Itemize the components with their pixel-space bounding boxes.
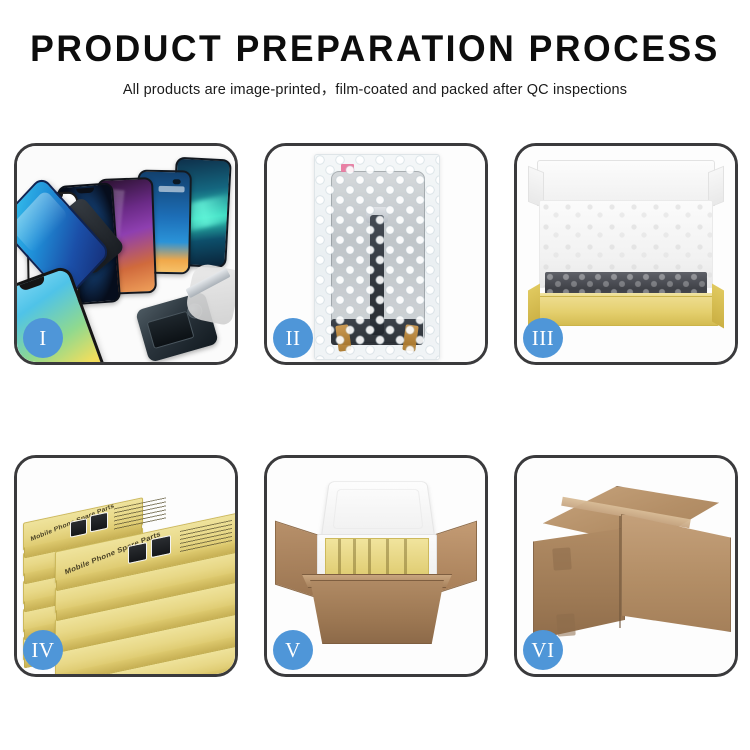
carton-front-panel <box>301 580 453 644</box>
sealed-carton <box>527 478 725 656</box>
process-step-4: Mobile Phone Spare Parts Mobile Phone Sp… <box>14 455 238 677</box>
process-step-grid: I II <box>14 143 736 677</box>
step-badge-1: I <box>23 318 63 358</box>
box-window-screen-icon <box>151 535 171 558</box>
process-step-2: II <box>264 143 488 365</box>
bubble-texture <box>315 155 439 359</box>
carton-right-face <box>621 514 731 632</box>
process-step-1: I <box>14 143 238 365</box>
page-subtitle: All products are image-printed，film-coat… <box>0 78 750 99</box>
carton-tab-icon <box>556 613 575 636</box>
carton-tab-icon <box>552 547 571 570</box>
yellow-box-base <box>533 296 719 326</box>
step-badge-5: V <box>273 630 313 670</box>
process-step-3: III <box>514 143 738 365</box>
carton-left-face <box>533 528 625 640</box>
foam-lid <box>321 481 436 539</box>
step-badge-2: II <box>273 318 313 358</box>
process-step-5: V <box>264 455 488 677</box>
status-bar-icon <box>159 186 185 192</box>
bubble-wrap-bag <box>314 154 440 360</box>
carton-edge-seam <box>619 516 621 628</box>
camera-punch-icon <box>173 179 181 184</box>
step-badge-6: VI <box>523 630 563 670</box>
battery-icon <box>147 311 195 349</box>
step-badge-3: III <box>523 318 563 358</box>
process-step-6: VI <box>514 455 738 677</box>
page-title: PRODUCT PREPARATION PROCESS <box>15 30 735 69</box>
notch-icon <box>76 188 94 194</box>
open-box-assembly <box>525 160 727 340</box>
step-badge-4: IV <box>23 630 63 670</box>
page-header: PRODUCT PREPARATION PROCESS All products… <box>0 0 750 99</box>
